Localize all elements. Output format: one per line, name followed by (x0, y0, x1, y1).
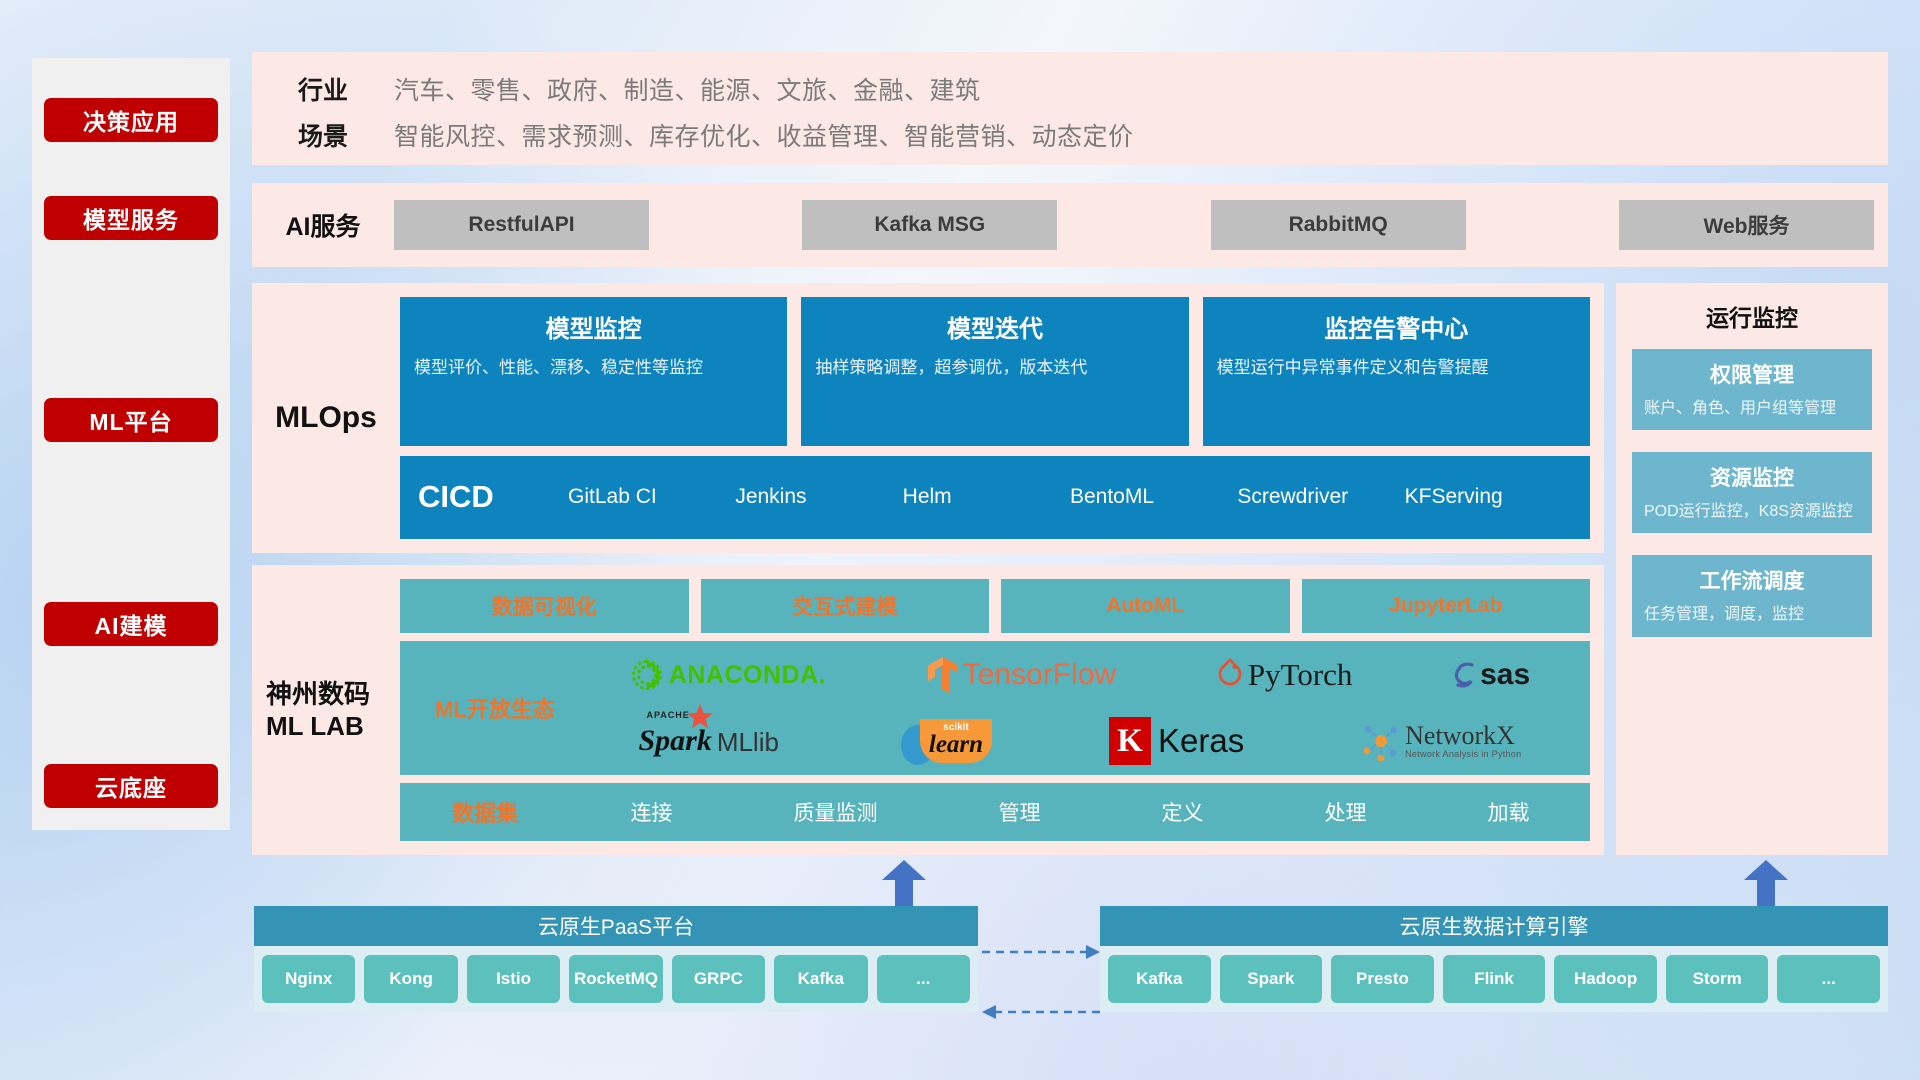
mlops-card-list: 模型监控 模型评价、性能、漂移、稳定性等监控 模型迭代 抽样策略调整，超参调优，… (400, 297, 1590, 446)
industry-values: 汽车、零售、政府、制造、能源、文旅、金融、建筑 (394, 71, 981, 107)
mlops-card-model-monitoring[interactable]: 模型监控 模型评价、性能、漂移、稳定性等监控 (400, 297, 787, 446)
monitor-card-permission[interactable]: 权限管理 账户、角色、用户组等管理 (1632, 349, 1872, 430)
lab-tool-interactive-modeling[interactable]: 交互式建模 (701, 579, 990, 633)
cicd-item-bentoml[interactable]: BentoML (1070, 486, 1237, 508)
mlops-card-title: 模型迭代 (815, 309, 1174, 344)
mlops-card-model-iteration[interactable]: 模型迭代 抽样策略调整，超参调优，版本迭代 (801, 297, 1188, 446)
service-box-web-service[interactable]: Web服务 (1619, 200, 1874, 250)
pytorch-logo: PyTorch (1216, 657, 1353, 693)
spark-star-icon (686, 704, 714, 730)
anaconda-logo: ANACONDA. (630, 658, 826, 692)
mlops-card-desc: 模型评价、性能、漂移、稳定性等监控 (414, 356, 773, 381)
cicd-item-gitlab-ci[interactable]: GitLab CI (568, 486, 735, 508)
engine-chip-storm[interactable]: Storm (1666, 955, 1769, 1003)
networkx-logo: NetworkX Network Analysis in Python (1361, 721, 1521, 761)
rail-item-ai-modeling[interactable]: AI建模 (44, 602, 218, 646)
band-decision-applications: 行业 汽车、零售、政府、制造、能源、文旅、金融、建筑 场景 智能风控、需求预测、… (252, 52, 1888, 165)
ml-lab-label: 神州数码 ML LAB (252, 565, 400, 855)
scikit-learn-logo: scikit learn (896, 715, 992, 767)
service-box-rabbitmq[interactable]: RabbitMQ (1211, 200, 1466, 250)
cicd-item-kfserving[interactable]: KFServing (1405, 486, 1572, 508)
lab-tool-automl[interactable]: AutoML (1001, 579, 1290, 633)
mlops-card-alert-center[interactable]: 监控告警中心 模型运行中异常事件定义和告警提醒 (1203, 297, 1590, 446)
dataset-item-load[interactable]: 加载 (1488, 797, 1530, 827)
band-runtime-monitoring: 运行监控 权限管理 账户、角色、用户组等管理 资源监控 POD运行监控，K8S资… (1616, 283, 1888, 855)
rail-item-decision-app[interactable]: 决策应用 (44, 98, 218, 142)
runtime-monitoring-title: 运行监控 (1632, 299, 1872, 333)
dataset-item-define[interactable]: 定义 (1162, 797, 1204, 827)
industry-row: 行业 汽车、零售、政府、制造、能源、文旅、金融、建筑 (252, 66, 1888, 112)
cloud-paas-group: 云原生PaaS平台 Nginx Kong Istio RocketMQ GRPC… (254, 906, 978, 1012)
engine-chip-more[interactable]: ... (1777, 955, 1880, 1003)
cicd-item-helm[interactable]: Helm (903, 486, 1070, 508)
paas-chip-grpc[interactable]: GRPC (672, 955, 765, 1003)
band-ai-service: AI服务 RestfulAPI Kafka MSG RabbitMQ Web服务 (252, 183, 1888, 267)
lab-tool-jupyterlab[interactable]: JupyterLab (1302, 579, 1591, 633)
band-ml-lab: 神州数码 ML LAB 数据可视化 交互式建模 AutoML JupyterLa… (252, 565, 1604, 855)
monitor-card-desc: 任务管理，调度，监控 (1644, 603, 1860, 626)
monitor-card-workflow[interactable]: 工作流调度 任务管理，调度，监控 (1632, 555, 1872, 636)
lab-tool-data-visualization[interactable]: 数据可视化 (400, 579, 689, 633)
engine-chip-hadoop[interactable]: Hadoop (1554, 955, 1657, 1003)
paas-chip-kong[interactable]: Kong (364, 955, 457, 1003)
paas-chip-nginx[interactable]: Nginx (262, 955, 355, 1003)
service-box-restfulapi[interactable]: RestfulAPI (394, 200, 649, 250)
cloud-paas-title: 云原生PaaS平台 (254, 906, 978, 946)
layer-rail: 决策应用 模型服务 ML平台 AI建模 云底座 (32, 58, 230, 830)
engine-chip-spark[interactable]: Spark (1220, 955, 1323, 1003)
industry-label: 行业 (252, 71, 394, 107)
cicd-item-screwdriver[interactable]: Screwdriver (1237, 486, 1404, 508)
scenario-values: 智能风控、需求预测、库存优化、收益管理、智能营销、动态定价 (394, 117, 1134, 153)
dataset-item-process[interactable]: 处理 (1325, 797, 1367, 827)
cloud-data-engine-chip-list: Kafka Spark Presto Flink Hadoop Storm ..… (1100, 946, 1888, 1012)
main-column: 行业 汽车、零售、政府、制造、能源、文旅、金融、建筑 场景 智能风控、需求预测、… (252, 0, 1888, 1080)
paas-chip-kafka[interactable]: Kafka (774, 955, 867, 1003)
mlops-card-desc: 模型运行中异常事件定义和告警提醒 (1217, 356, 1576, 381)
ml-open-ecosystem: ML开放生态 ANACONDA. (400, 641, 1590, 776)
keras-logo: K Keras (1109, 717, 1244, 765)
service-box-kafka-msg[interactable]: Kafka MSG (802, 200, 1057, 250)
engine-chip-flink[interactable]: Flink (1443, 955, 1546, 1003)
monitor-card-title: 工作流调度 (1644, 565, 1860, 595)
anaconda-icon (630, 658, 664, 692)
mlops-card-desc: 抽样策略调整，超参调优，版本迭代 (815, 356, 1174, 381)
dataset-item-quality[interactable]: 质量监测 (794, 797, 878, 827)
paas-chip-rocketmq[interactable]: RocketMQ (569, 955, 662, 1003)
cloud-data-engine-group: 云原生数据计算引擎 Kafka Spark Presto Flink Hadoo… (1100, 906, 1888, 1012)
spark-mllib-logo: APACHE Spark MLlib (638, 724, 779, 758)
monitor-card-desc: 账户、角色、用户组等管理 (1644, 397, 1860, 420)
ai-service-label: AI服务 (252, 207, 394, 243)
mlops-card-title: 监控告警中心 (1217, 309, 1576, 344)
monitor-card-resource[interactable]: 资源监控 POD运行监控，K8S资源监控 (1632, 452, 1872, 533)
sas-logo: sas (1452, 658, 1530, 692)
paas-chip-more[interactable]: ... (877, 955, 970, 1003)
cloud-interconnect-arrows (978, 940, 1104, 1046)
pytorch-icon (1216, 658, 1244, 692)
ai-service-boxes: RestfulAPI Kafka MSG RabbitMQ Web服务 (394, 200, 1888, 250)
band-mlops: MLOps 模型监控 模型评价、性能、漂移、稳定性等监控 模型迭代 抽样策略调整… (252, 283, 1604, 553)
cicd-item-jenkins[interactable]: Jenkins (735, 486, 902, 508)
cicd-strip: CICD GitLab CI Jenkins Helm BentoML Scre… (400, 456, 1590, 539)
tensorflow-logo: TensorFlow (926, 655, 1116, 695)
rail-item-model-service[interactable]: 模型服务 (44, 196, 218, 240)
sas-icon (1452, 659, 1478, 691)
dataset-label: 数据集 (400, 796, 570, 828)
cicd-title: CICD (418, 479, 568, 515)
engine-chip-presto[interactable]: Presto (1331, 955, 1434, 1003)
networkx-icon (1361, 721, 1401, 761)
ecosystem-logo-row-1: ANACONDA. TensorFlow (580, 643, 1580, 707)
ecosystem-logo-grid: ANACONDA. TensorFlow (580, 643, 1580, 773)
tensorflow-icon (926, 655, 960, 695)
monitor-card-desc: POD运行监控，K8S资源监控 (1644, 500, 1860, 523)
ml-lab-content: 数据可视化 交互式建模 AutoML JupyterLab ML开放生态 (400, 565, 1604, 855)
paas-chip-istio[interactable]: Istio (467, 955, 560, 1003)
monitor-card-title: 资源监控 (1644, 462, 1860, 492)
scenario-label: 场景 (252, 117, 394, 153)
rail-item-ml-platform[interactable]: ML平台 (44, 398, 218, 442)
mlops-label: MLOps (252, 283, 400, 553)
ecosystem-logo-row-2: APACHE Spark MLlib (580, 709, 1580, 773)
monitor-card-title: 权限管理 (1644, 359, 1860, 389)
cloud-paas-chip-list: Nginx Kong Istio RocketMQ GRPC Kafka ... (254, 946, 978, 1012)
scenario-row: 场景 智能风控、需求预测、库存优化、收益管理、智能营销、动态定价 (252, 112, 1888, 158)
dataset-item-manage[interactable]: 管理 (999, 797, 1041, 827)
ml-open-ecosystem-label: ML开放生态 (410, 692, 580, 724)
mlops-card-title: 模型监控 (414, 309, 773, 344)
mlops-content: 模型监控 模型评价、性能、漂移、稳定性等监控 模型迭代 抽样策略调整，超参调优，… (400, 283, 1604, 553)
ml-lab-label-line1: 神州数码 (266, 678, 370, 711)
cloud-data-engine-title: 云原生数据计算引擎 (1100, 906, 1888, 946)
arrow-up-data-engine-icon (1744, 860, 1788, 906)
arrow-up-paas-icon (882, 860, 926, 906)
dataset-item-list: 连接 质量监测 管理 定义 处理 加载 (570, 797, 1590, 827)
engine-chip-kafka[interactable]: Kafka (1108, 955, 1211, 1003)
dataset-strip: 数据集 连接 质量监测 管理 定义 处理 加载 (400, 783, 1590, 841)
ml-lab-label-line2: ML LAB (266, 710, 370, 743)
rail-item-cloud-base[interactable]: 云底座 (44, 764, 218, 808)
dataset-item-connect[interactable]: 连接 (631, 797, 673, 827)
cicd-item-list: GitLab CI Jenkins Helm BentoML Screwdriv… (568, 486, 1572, 508)
lab-tool-list: 数据可视化 交互式建模 AutoML JupyterLab (400, 579, 1590, 633)
